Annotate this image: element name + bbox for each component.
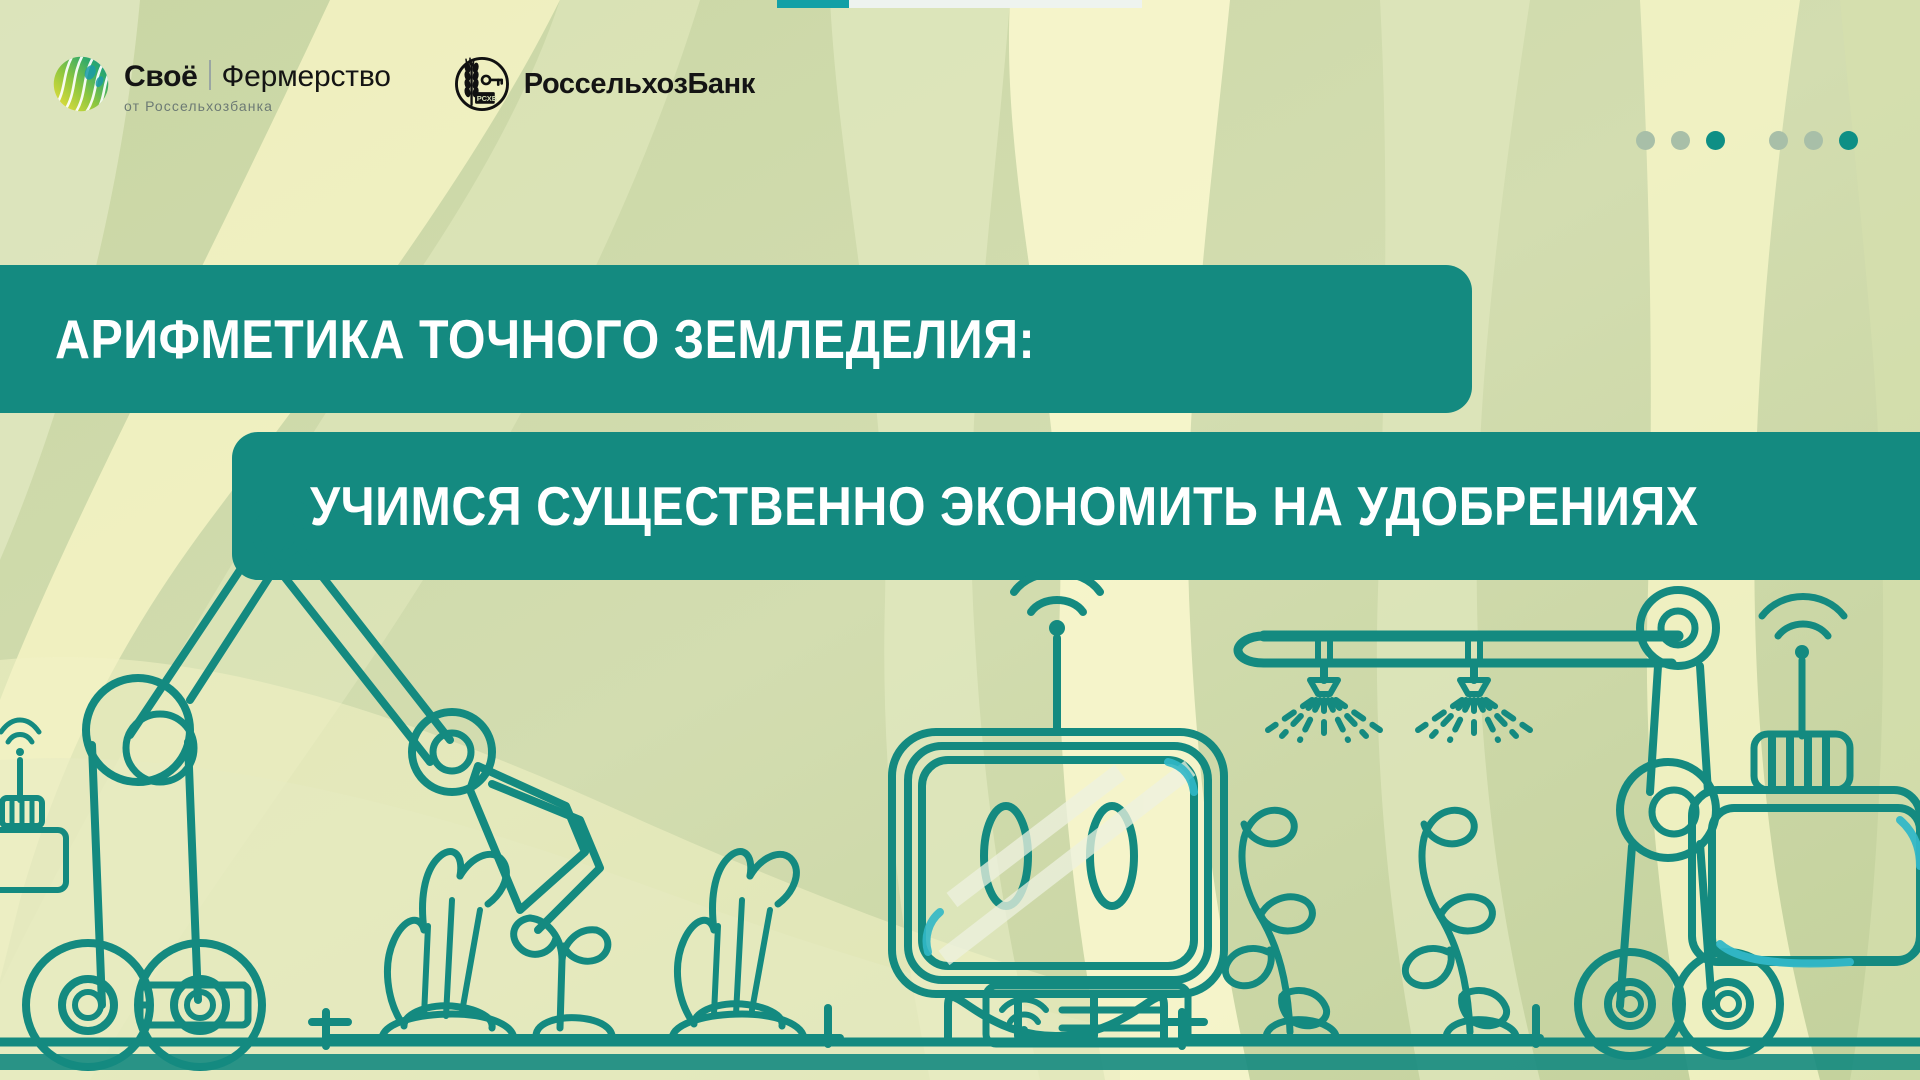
svoe-tagline: от Россельхозбанка [124,99,391,113]
slide-canvas: Своё Фермерство от Россельхозбанка [0,0,1920,1080]
title-bar-line1: АРИФМЕТИКА ТОЧНОГО ЗЕМЛЕДЕЛИЯ: [0,265,1472,413]
slide-dots[interactable] [1636,131,1858,150]
slide-dot-1[interactable] [1636,131,1655,150]
slide-dot-5[interactable] [1804,131,1823,150]
svoe-product-name: Фермерство [222,62,391,92]
rshb-name: РоссельхозБанк [524,68,755,101]
svoe-logo-text: Своё Фермерство от Россельхозбанка [124,56,391,113]
rshb-wheat-key-emblem-icon: РСХБ [453,55,511,113]
header-logos: Своё Фермерство от Россельхозбанка [52,48,755,120]
title-bar-line2: УЧИМСЯ СУЩЕСТВЕННО ЭКОНОМИТЬ НА УДОБРЕНИ… [232,432,1920,580]
slide-dot-3[interactable] [1706,131,1725,150]
svoe-sphere-logo-icon [52,55,110,113]
svg-text:РСХБ: РСХБ [477,94,498,103]
slide-dot-6[interactable] [1839,131,1858,150]
title-line2: УЧИМСЯ СУЩЕСТВЕННО ЭКОНОМИТЬ НА УДОБРЕНИ… [310,474,1699,538]
slide-dot-4[interactable] [1769,131,1788,150]
title-line1: АРИФМЕТИКА ТОЧНОГО ЗЕМЛЕДЕЛИЯ: [55,307,1035,371]
svoe-fermerstvo-logo[interactable]: Своё Фермерство от Россельхозбанка [52,55,391,113]
slide-dot-2[interactable] [1671,131,1690,150]
logo-divider [209,60,211,90]
rshb-logo[interactable]: РСХБ РоссельхозБанк [453,55,755,113]
svoe-brand-name: Своё [124,62,198,92]
